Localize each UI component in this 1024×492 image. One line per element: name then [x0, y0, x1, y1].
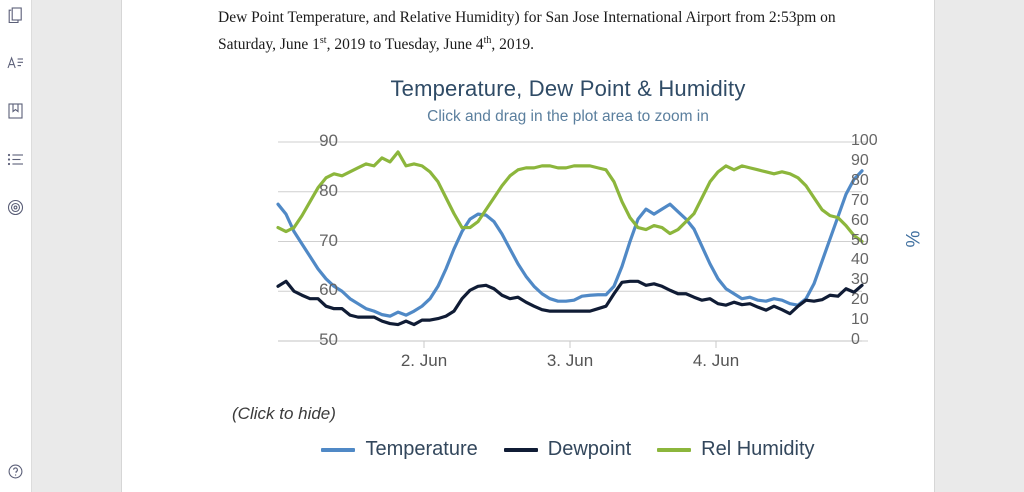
y-tick-right: 90 — [851, 152, 897, 170]
y-tick-left: 70 — [298, 231, 338, 251]
document-page: Dew Point Temperature, and Relative Humi… — [122, 0, 934, 492]
paragraph-line-2-b: , 2019 to Tuesday, June 4 — [327, 36, 484, 53]
annotate-icon[interactable] — [3, 50, 29, 76]
legend-item-list: TemperatureDewpointRel Humidity — [218, 438, 918, 461]
document-paragraph: Dew Point Temperature, and Relative Humi… — [218, 6, 848, 56]
y-tick-left: 60 — [298, 280, 338, 300]
legend-label: Rel Humidity — [701, 438, 814, 461]
y-tick-right: 80 — [851, 172, 897, 190]
bookmark-icon[interactable] — [3, 98, 29, 124]
y-tick-left: 90 — [298, 131, 338, 151]
x-tick-label: 4. Jun — [671, 351, 761, 371]
x-tick-label: 2. Jun — [379, 351, 469, 371]
ordinal-suffix-first: st — [320, 35, 327, 46]
chart-title: Temperature, Dew Point & Humidity — [218, 74, 918, 104]
y-tick-right: 100 — [851, 132, 897, 150]
chart-legend: (Click to hide) TemperatureDewpointRel H… — [218, 404, 918, 461]
y-tick-left: 80 — [298, 181, 338, 201]
y-tick-right: 40 — [851, 251, 897, 269]
y-tick-right: 0 — [851, 331, 897, 349]
series-line-dewpoint — [278, 281, 862, 324]
y-tick-right: 50 — [851, 232, 897, 250]
sidebar-tool-rail — [0, 0, 32, 492]
y-tick-right: 60 — [851, 212, 897, 230]
y-tick-right: 30 — [851, 271, 897, 289]
legend-label: Temperature — [365, 438, 477, 461]
y-tick-right: 70 — [851, 192, 897, 210]
settings-icon[interactable] — [3, 194, 29, 220]
pages-icon[interactable] — [3, 2, 29, 28]
paragraph-line-2-c: , 2019. — [491, 36, 534, 53]
outline-icon[interactable] — [3, 146, 29, 172]
app-root: Dew Point Temperature, and Relative Humi… — [0, 0, 1024, 492]
paragraph-line-1: Dew Point Temperature, and Relative Humi… — [218, 9, 816, 26]
series-line-rel-humidity — [278, 152, 862, 242]
weather-chart: Temperature, Dew Point & Humidity Click … — [218, 74, 918, 484]
legend-swatch — [504, 448, 538, 452]
series-line-temperature — [278, 171, 862, 316]
help-icon[interactable] — [3, 458, 29, 484]
chart-subtitle: Click and drag in the plot area to zoom … — [218, 104, 918, 130]
legend-swatch — [321, 448, 355, 452]
y-tick-right: 20 — [851, 291, 897, 309]
y-tick-right: 10 — [851, 311, 897, 329]
y-axis-right-label: % — [903, 231, 925, 248]
plot-area[interactable]: 5060708090 0102030405060708090100 2. Jun… — [218, 136, 918, 376]
x-tick-label: 3. Jun — [525, 351, 615, 371]
legend-item-rel-humidity[interactable]: Rel Humidity — [657, 438, 814, 461]
legend-swatch — [657, 448, 691, 452]
legend-item-temperature[interactable]: Temperature — [321, 438, 477, 461]
legend-hint: (Click to hide) — [232, 404, 918, 424]
legend-item-dewpoint[interactable]: Dewpoint — [504, 438, 631, 461]
legend-label: Dewpoint — [548, 438, 631, 461]
y-tick-left: 50 — [298, 330, 338, 350]
